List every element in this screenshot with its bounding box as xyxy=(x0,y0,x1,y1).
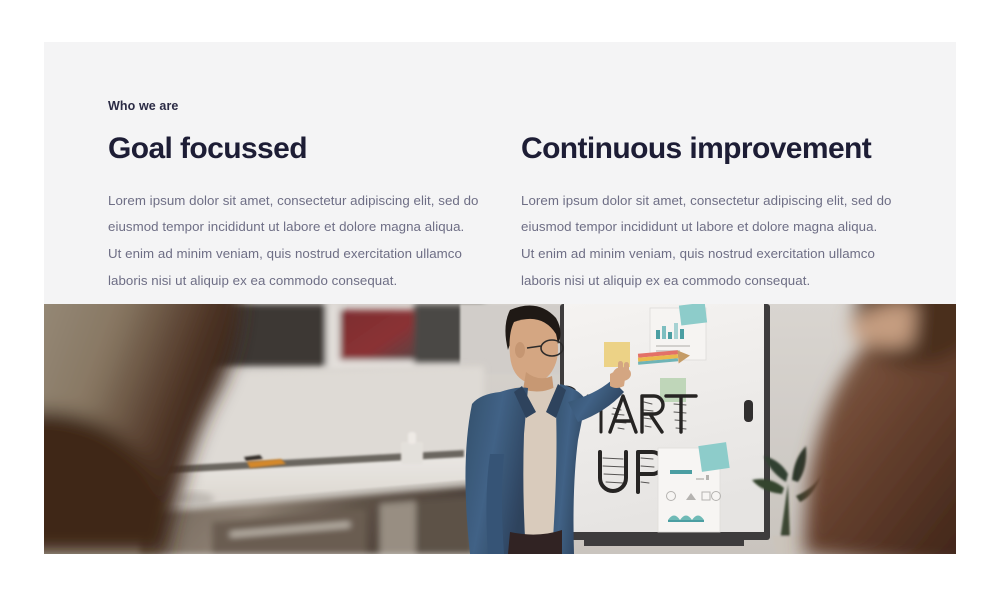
column-continuous-improvement: Continuous improvement Lorem ipsum dolor… xyxy=(521,100,899,295)
column-body-text: Lorem ipsum dolor sit amet, consectetur … xyxy=(108,188,480,295)
column-goal-focussed: Who we are Goal focussed Lorem ipsum dol… xyxy=(108,100,486,295)
column-body-text: Lorem ipsum dolor sit amet, consectetur … xyxy=(521,188,893,295)
page-root: Who we are Goal focussed Lorem ipsum dol… xyxy=(0,0,1000,601)
column-heading: Continuous improvement xyxy=(521,132,899,166)
team-photo-illustration xyxy=(44,304,956,554)
column-heading: Goal focussed xyxy=(108,132,486,166)
who-we-are-card: Who we are Goal focussed Lorem ipsum dol… xyxy=(44,42,956,304)
team-photo xyxy=(44,304,956,554)
column-container: Who we are Goal focussed Lorem ipsum dol… xyxy=(44,42,956,295)
eyebrow-spacer xyxy=(521,100,899,114)
section-eyebrow: Who we are xyxy=(108,100,486,114)
